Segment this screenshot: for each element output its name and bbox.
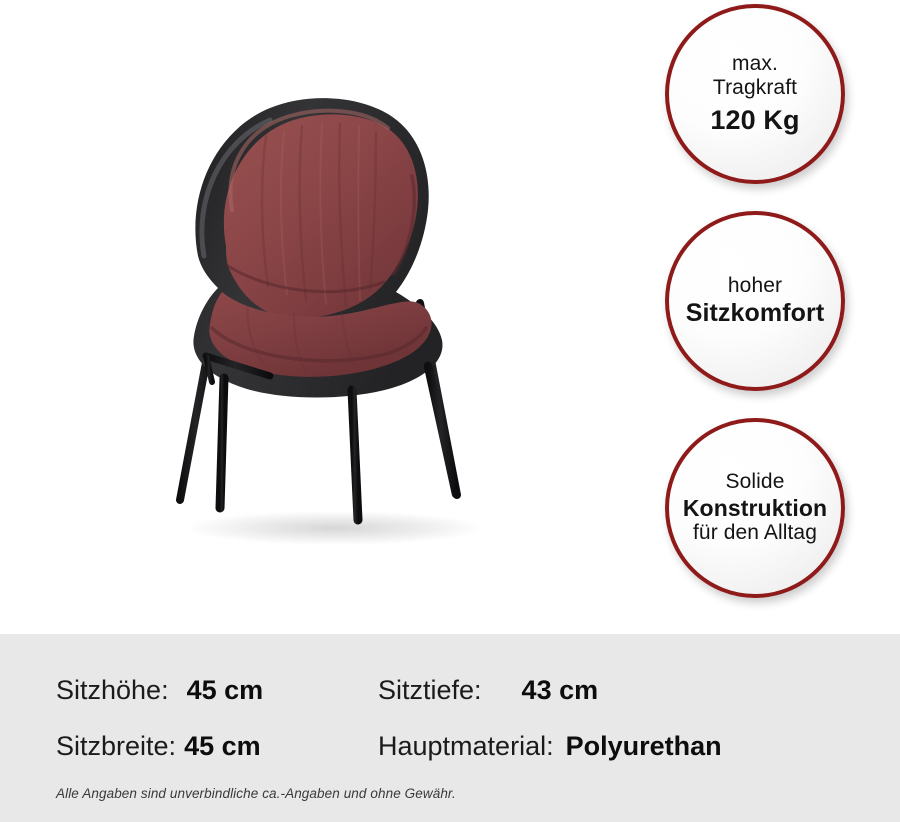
- spec-label: Sitzhöhe:: [56, 675, 169, 706]
- max-load-badge: max. Tragkraft 120 Kg: [665, 4, 845, 184]
- spec-label: Hauptmaterial:: [378, 731, 554, 762]
- spec-seat-depth: Sitztiefe: 43 cm: [378, 675, 856, 706]
- spec-seat-height: Sitzhöhe: 45 cm: [56, 675, 378, 706]
- specifications-grid: Sitzhöhe: 45 cm Sitztiefe: 43 cm Sitzbre…: [56, 662, 856, 774]
- product-infographic: max. Tragkraft 120 Kg hoher Sitzkomfort …: [0, 0, 900, 822]
- spec-seat-width: Sitzbreite: 45 cm: [56, 731, 378, 762]
- badge-line: hoher: [728, 274, 782, 298]
- badge-line: Solide: [726, 470, 785, 494]
- product-image-chair: [120, 60, 540, 550]
- hero-section: max. Tragkraft 120 Kg hoher Sitzkomfort …: [0, 0, 900, 634]
- badge-value: 120 Kg: [710, 105, 799, 136]
- spec-value: 45 cm: [184, 731, 261, 762]
- solid-construction-badge: Solide Konstruktion für den Alltag: [665, 418, 845, 598]
- badge-line: max.: [732, 52, 778, 76]
- specifications-panel: Sitzhöhe: 45 cm Sitztiefe: 43 cm Sitzbre…: [0, 634, 900, 822]
- spec-label: Sitzbreite:: [56, 731, 176, 762]
- disclaimer-footnote: Alle Angaben sind unverbindliche ca.-Ang…: [56, 786, 456, 801]
- badge-line: für den Alltag: [693, 521, 817, 545]
- spec-label: Sitztiefe:: [378, 675, 482, 706]
- spec-value: 45 cm: [187, 675, 264, 706]
- seating-comfort-badge: hoher Sitzkomfort: [665, 211, 845, 391]
- spec-main-material: Hauptmaterial: Polyurethan: [378, 731, 856, 762]
- spec-value: 43 cm: [522, 675, 599, 706]
- badge-value: Konstruktion: [683, 495, 827, 522]
- badge-line: Tragkraft: [713, 76, 797, 100]
- badge-value: Sitzkomfort: [686, 299, 825, 328]
- spec-value: Polyurethan: [566, 731, 722, 762]
